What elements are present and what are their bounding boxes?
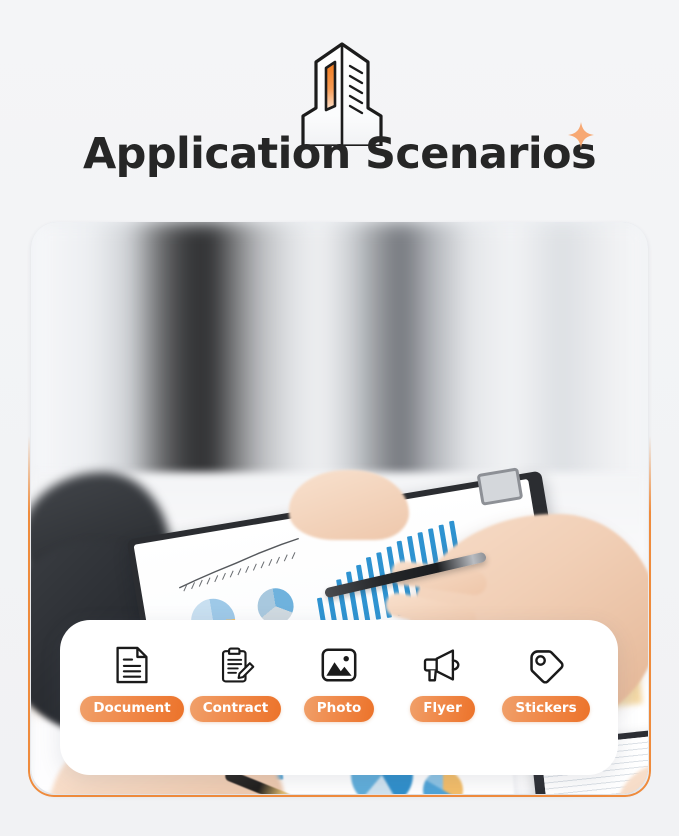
feature-label-document: Document [80, 696, 183, 722]
feature-item-stickers[interactable]: Stickers [496, 642, 596, 722]
clipboard-clip-top [477, 467, 524, 505]
feature-item-flyer[interactable]: Flyer [393, 642, 493, 722]
document-icon [114, 642, 150, 688]
header: Application Scenarios [0, 0, 679, 212]
feature-card: Document Contract [60, 620, 618, 775]
feature-list: Document Contract [60, 620, 618, 775]
feature-item-photo[interactable]: Photo [289, 642, 389, 722]
flyer-icon [422, 642, 464, 688]
page-root: Application Scenarios [0, 0, 679, 836]
feature-label-flyer: Flyer [410, 696, 474, 722]
report-line-chart [172, 535, 307, 596]
sparkle-icon [566, 120, 596, 150]
feature-label-photo: Photo [304, 696, 375, 722]
page-title: Application Scenarios [83, 128, 596, 180]
contract-icon [217, 642, 255, 688]
feature-label-stickers: Stickers [502, 696, 589, 722]
feature-item-contract[interactable]: Contract [186, 642, 286, 722]
feature-label-contract: Contract [190, 696, 281, 722]
feature-item-document[interactable]: Document [82, 642, 182, 722]
stickers-icon [526, 642, 566, 688]
photo-icon [319, 642, 359, 688]
